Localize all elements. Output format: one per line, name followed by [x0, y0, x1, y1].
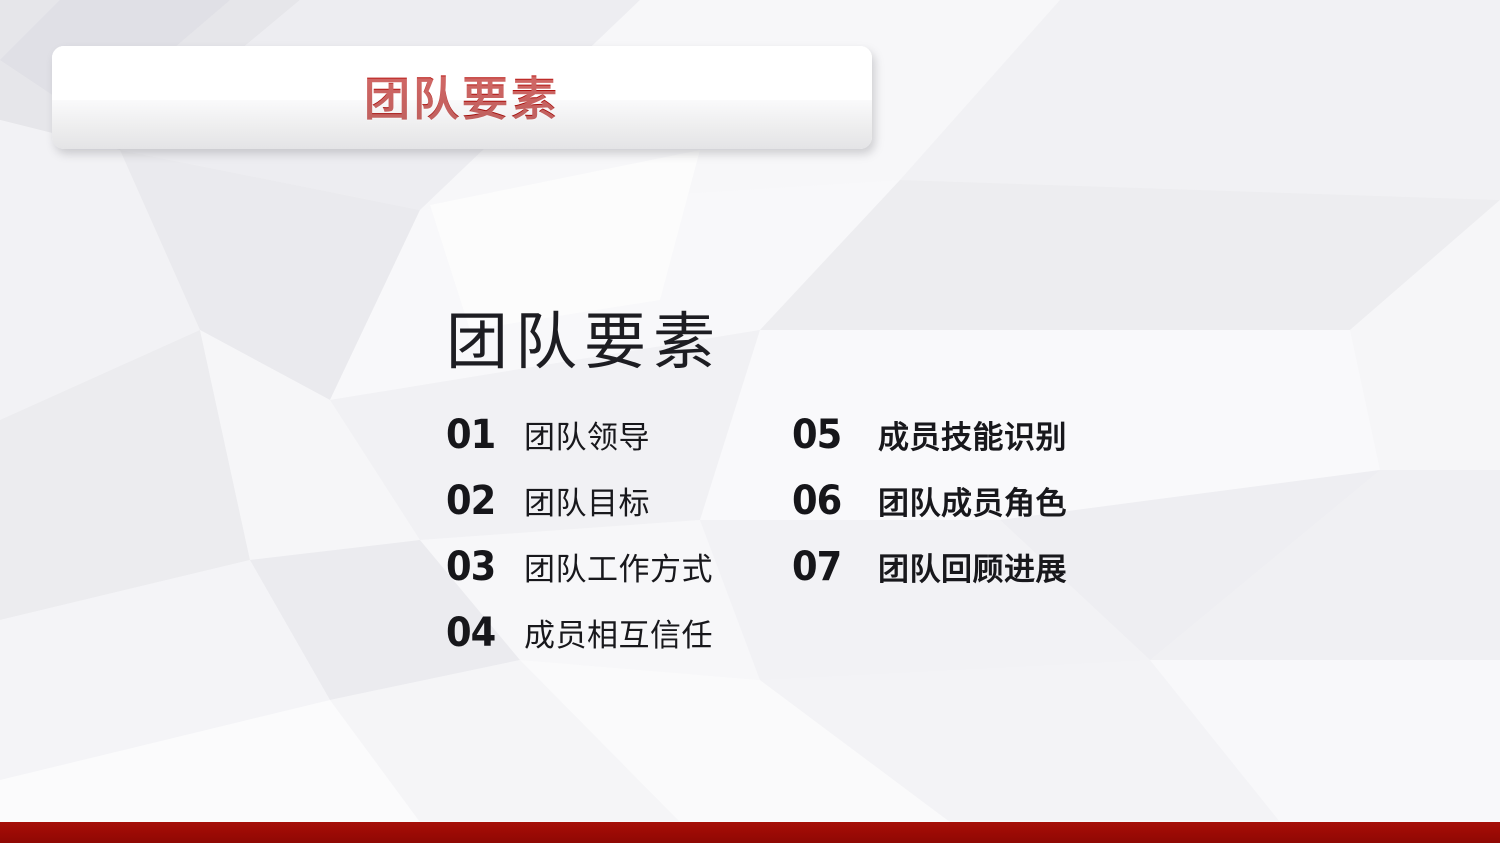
list-item[interactable]: 07 团队回顾进展 — [792, 544, 1067, 610]
list-item[interactable]: 02 团队目标 — [446, 478, 713, 544]
list-item[interactable]: 01 团队领导 — [446, 412, 713, 478]
page-title: 团队要素 — [446, 310, 722, 375]
item-label: 团队领导 — [524, 412, 650, 457]
item-number: 04 — [446, 610, 518, 656]
banner-title-text: 团队要素 — [52, 63, 872, 129]
item-number: 02 — [446, 478, 518, 524]
item-number: 07 — [792, 544, 871, 590]
item-label: 成员技能识别 — [878, 412, 1067, 457]
item-label: 团队工作方式 — [524, 544, 713, 589]
item-number: 06 — [792, 478, 871, 524]
agenda-column-left: 01 团队领导 02 团队目标 03 团队工作方式 04 成员相互信任 — [446, 412, 713, 676]
slide-title-banner: 团队要素 — [52, 46, 872, 149]
presentation-slide: 团队要素 团队要素 01 团队领导 02 团队目标 03 团队工作方式 04 成… — [0, 0, 1500, 843]
item-label: 团队目标 — [524, 478, 650, 523]
list-item[interactable]: 04 成员相互信任 — [446, 610, 713, 676]
item-number: 03 — [446, 544, 518, 590]
item-label: 成员相互信任 — [524, 610, 713, 655]
agenda-column-right: 05 成员技能识别 06 团队成员角色 07 团队回顾进展 — [792, 412, 1067, 610]
item-label: 团队成员角色 — [878, 478, 1067, 523]
item-number: 01 — [446, 412, 518, 458]
item-number: 05 — [792, 412, 871, 458]
bottom-accent-bar — [0, 822, 1500, 843]
list-item[interactable]: 06 团队成员角色 — [792, 478, 1067, 544]
item-label: 团队回顾进展 — [878, 544, 1067, 589]
list-item[interactable]: 03 团队工作方式 — [446, 544, 713, 610]
list-item[interactable]: 05 成员技能识别 — [792, 412, 1067, 478]
